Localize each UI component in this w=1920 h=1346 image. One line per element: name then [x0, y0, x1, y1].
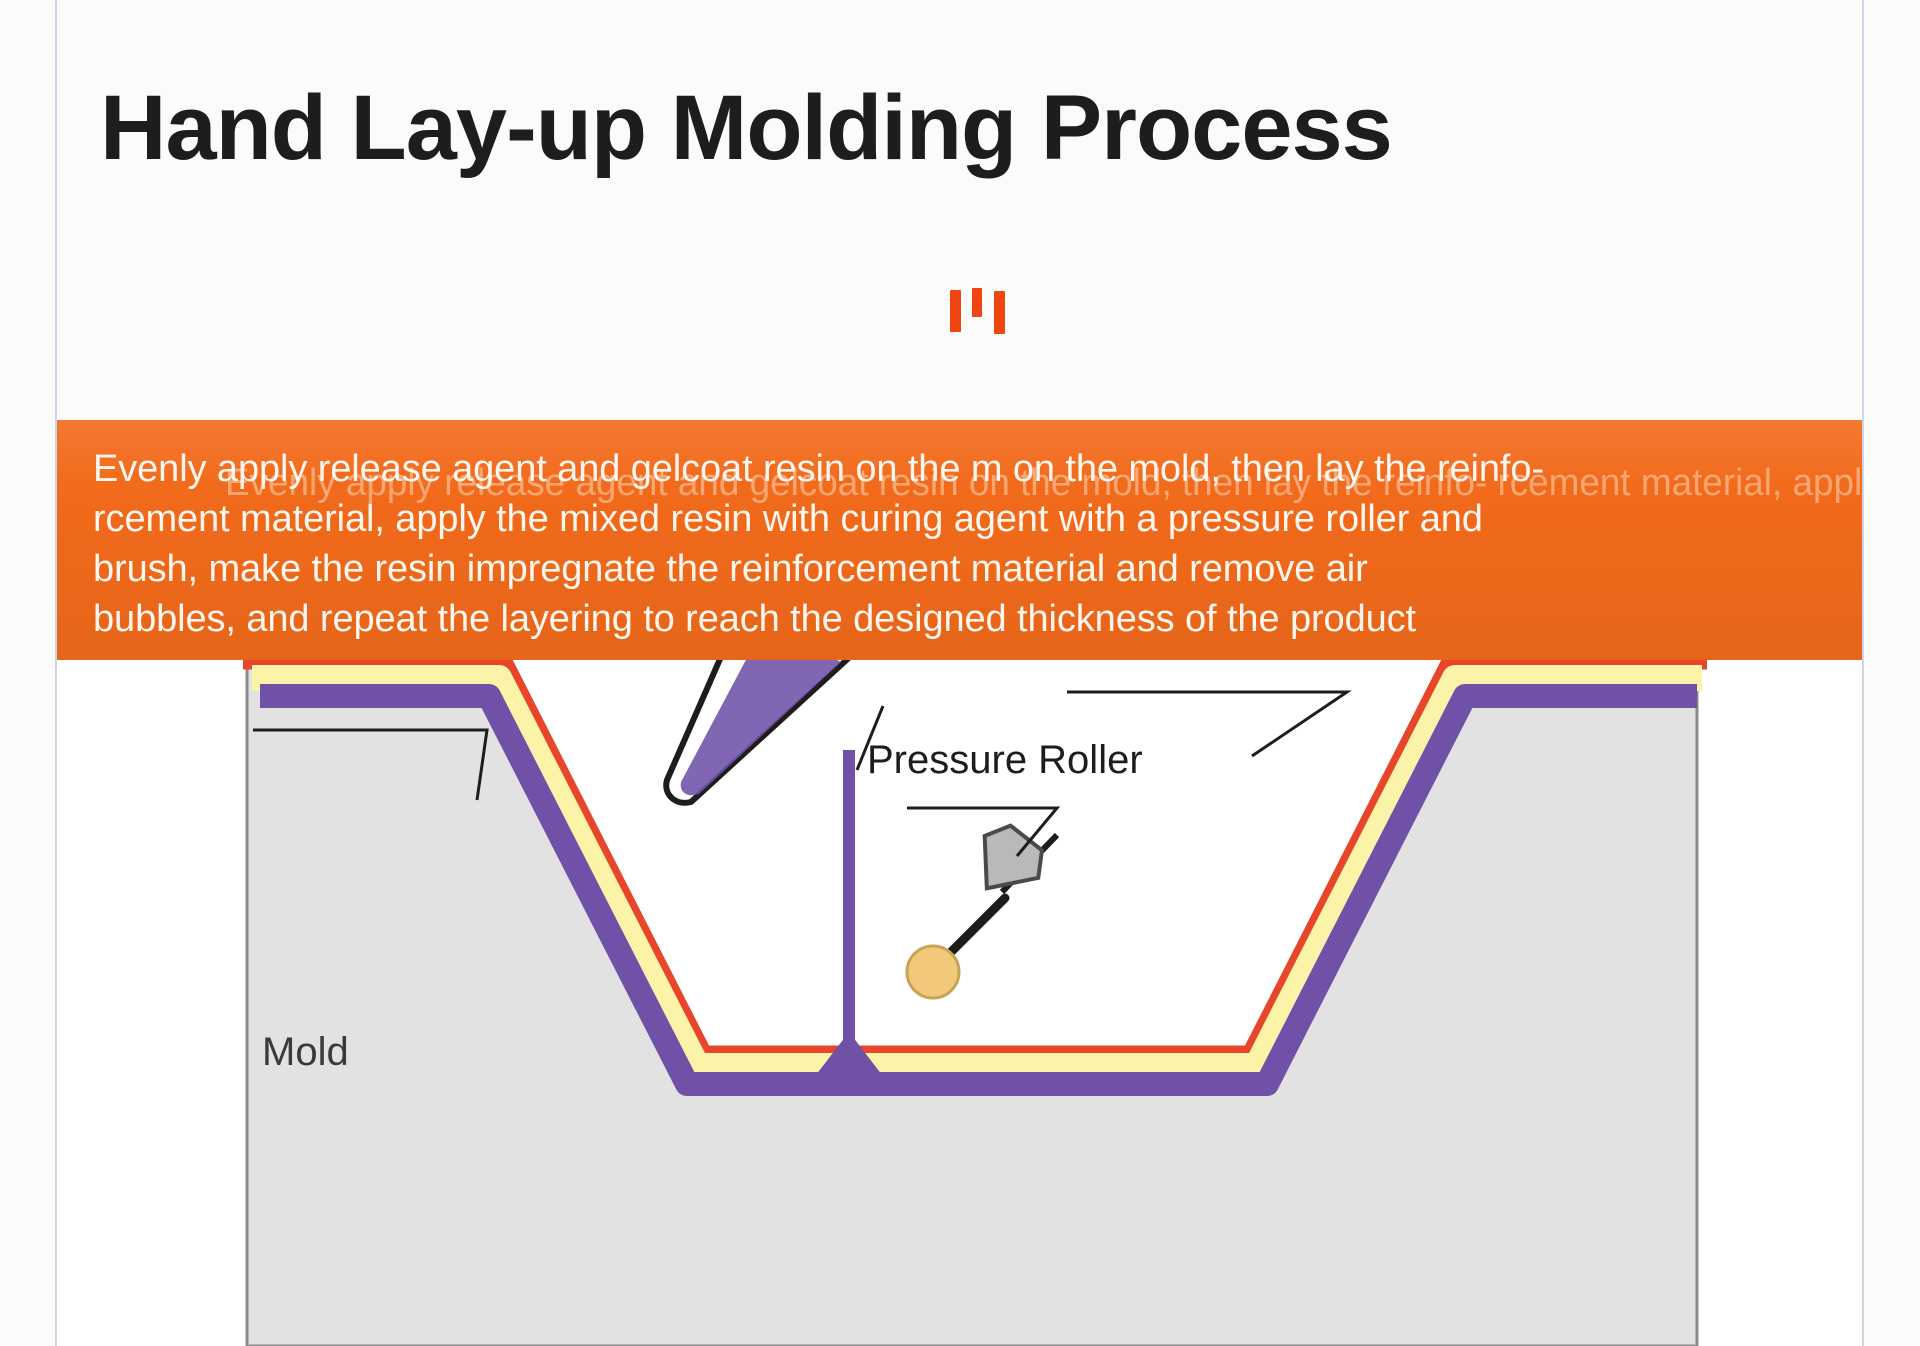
banner-line-2: rcement material, apply the mixed resin …: [93, 494, 1833, 544]
roller-contact-bubble: [907, 946, 959, 998]
resin-beaker-icon: [666, 660, 874, 803]
slide-page: Hand Lay-up Molding Process Evenly apply…: [0, 0, 1920, 1346]
page-frame-right-rule: [1862, 0, 1864, 1346]
banner-line-3: brush, make the resin impregnate the rei…: [93, 544, 1833, 594]
process-diagram: Reinforcement Material Resin Optional Ge…: [57, 660, 1862, 1346]
glyph-bar-1: [950, 290, 961, 332]
glyph-bar-3: [994, 291, 1005, 334]
banner-text: Evenly apply release agent and gelcoat r…: [93, 444, 1833, 644]
page-title: Hand Lay-up Molding Process: [100, 80, 1820, 177]
description-banner: Evenly apply release agent and gelcoat r…: [57, 420, 1862, 660]
orange-tri-bar-glyph-icon: [950, 288, 1020, 334]
glyph-bar-2: [972, 288, 982, 317]
pressure-roller-icon: [907, 817, 1057, 998]
label-pressure-roller: Pressure Roller: [867, 738, 1143, 783]
banner-line-4: bubbles, and repeat the layering to reac…: [93, 594, 1833, 644]
label-mold: Mold: [262, 1030, 349, 1075]
banner-line-1: Evenly apply release agent and gelcoat r…: [93, 444, 1833, 494]
